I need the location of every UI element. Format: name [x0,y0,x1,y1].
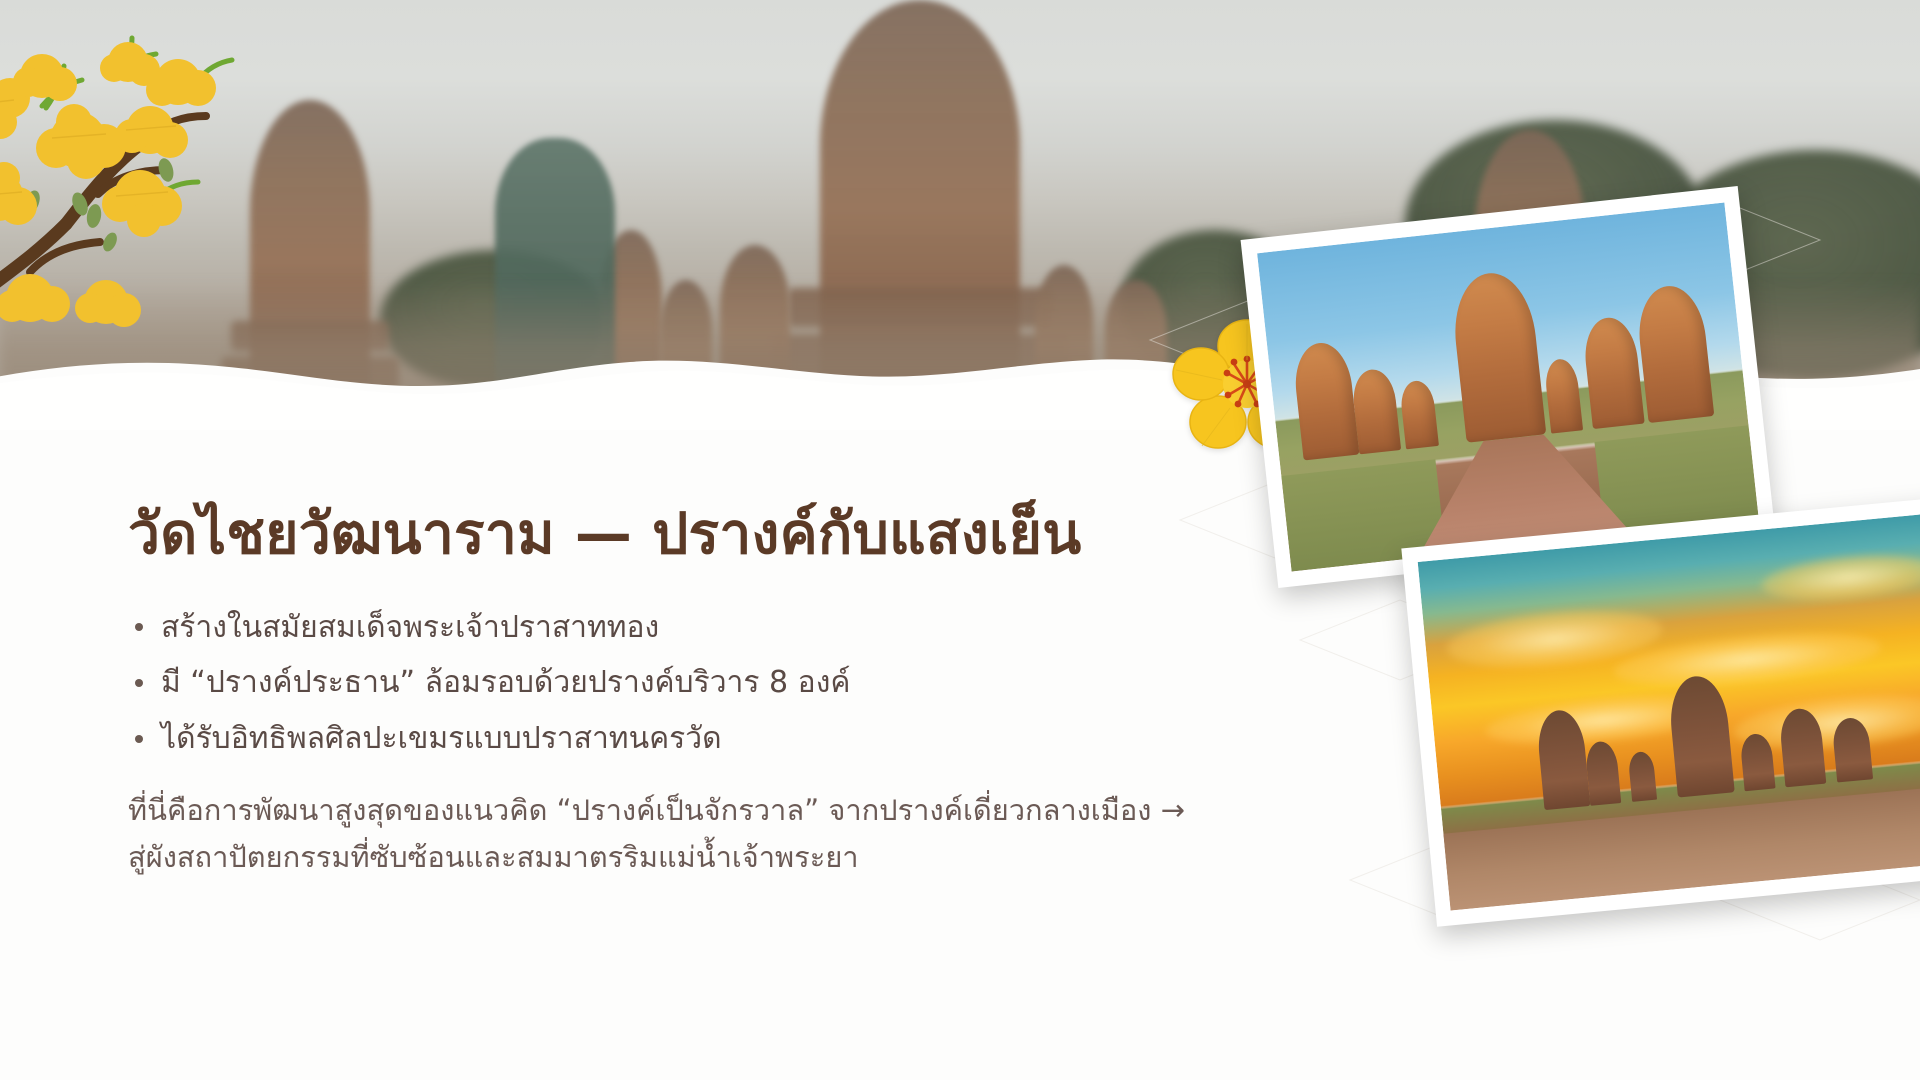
summary-paragraph: ที่นี่คือการพัฒนาสูงสุดของแนวคิด “ปรางค์… [128,787,1188,881]
list-item: สร้างในสมัยสมเด็จพระเจ้าปราสาททอง [128,600,1188,656]
list-item-label: สร้างในสมัยสมเด็จพระเจ้าปราสาททอง [161,610,659,645]
list-item-label: มี “ปรางค์ประธาน” ล้อมรอบด้วยปรางค์บริวา… [161,665,850,700]
photo-card-sunset[interactable] [1401,497,1920,927]
list-item: มี “ปรางค์ประธาน” ล้อมรอบด้วยปรางค์บริวา… [128,655,1188,711]
bullet-dot-icon [135,735,143,743]
bullet-dot-icon [135,679,143,687]
slide-root: วัดไชยวัฒนาราม — ปรางค์กับแสงเย็น สร้างใ… [0,0,1920,1080]
list-item: ได้รับอิทธิพลศิลปะเขมรแบบปราสาทนครวัด [128,711,1188,767]
temple-sunset-photo [1418,514,1920,911]
temple-daylight-photo [1257,203,1759,572]
bullet-dot-icon [135,623,143,631]
list-item-label: ได้รับอิทธิพลศิลปะเขมรแบบปราสาทนครวัด [161,721,722,756]
bullet-list: สร้างในสมัยสมเด็จพระเจ้าปราสาททอง มี “ปร… [128,600,1188,767]
content-block: วัดไชยวัฒนาราม — ปรางค์กับแสงเย็น สร้างใ… [128,500,1188,881]
page-title: วัดไชยวัฒนาราม — ปรางค์กับแสงเย็น [128,500,1188,570]
